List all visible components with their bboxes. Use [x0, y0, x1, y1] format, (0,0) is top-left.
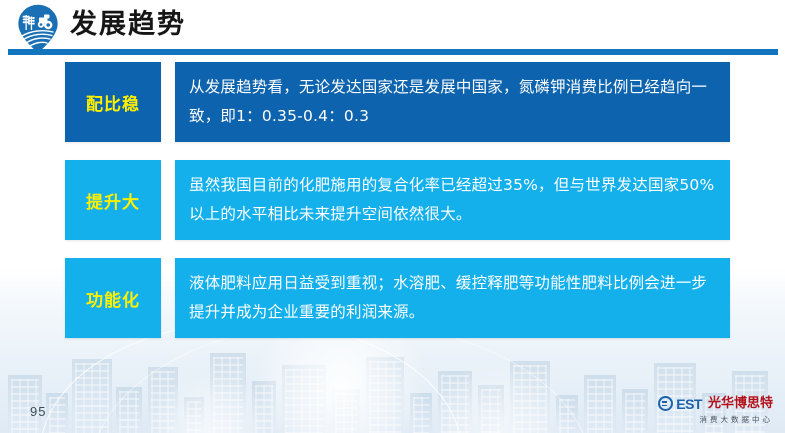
content-row: 配比稳 从发展趋势看，无论发达国家还是发展中国家，氮磷钾消费比例已经趋向一致，即…: [65, 62, 730, 142]
page-title: 发展趋势: [70, 6, 186, 44]
row-gap: [161, 160, 175, 240]
page-number: 95: [30, 404, 46, 419]
row-gap: [161, 258, 175, 338]
row-body-text: 液体肥料应用日益受到重视；水溶肥、缓控释肥等功能性肥料比例会进一步提升并成为企业…: [175, 258, 730, 338]
content-row: 功能化 液体肥料应用日益受到重视；水溶肥、缓控释肥等功能性肥料比例会进一步提升并…: [65, 258, 730, 338]
content-rows: 配比稳 从发展趋势看，无论发达国家还是发展中国家，氮磷钾消费比例已经趋向一致，即…: [0, 62, 785, 338]
row-tag-label: 提升大: [65, 160, 161, 240]
brand-subtitle: 消费大数据中心: [700, 414, 774, 425]
row-tag-label: 功能化: [65, 258, 161, 338]
row-tag-label: 配比稳: [65, 62, 161, 142]
slide-header: 发展趋势: [0, 0, 785, 58]
slide-root: 发展趋势 配比稳 从发展趋势看，无论发达国家还是发展中国家，氮磷钾消费比例已经趋…: [0, 0, 785, 433]
best-circle-logo-icon: [658, 396, 673, 411]
brand-name-en: EST: [676, 397, 702, 411]
row-body-text: 从发展趋势看，无论发达国家还是发展中国家，氮磷钾消费比例已经趋向一致，即1：0.…: [175, 62, 730, 142]
content-row: 提升大 虽然我国目前的化肥施用的复合化率已经超过35%，但与世界发达国家50%以…: [65, 160, 730, 240]
header-divider: [8, 49, 778, 55]
brand-logo: EST 光华博思特 消费大数据中心: [658, 396, 773, 425]
row-gap: [161, 62, 175, 142]
location-pin-agriculture-icon: [14, 3, 62, 55]
brand-name-cn: 光华博思特: [708, 397, 773, 410]
row-body-text: 虽然我国目前的化肥施用的复合化率已经超过35%，但与世界发达国家50%以上的水平…: [175, 160, 730, 240]
